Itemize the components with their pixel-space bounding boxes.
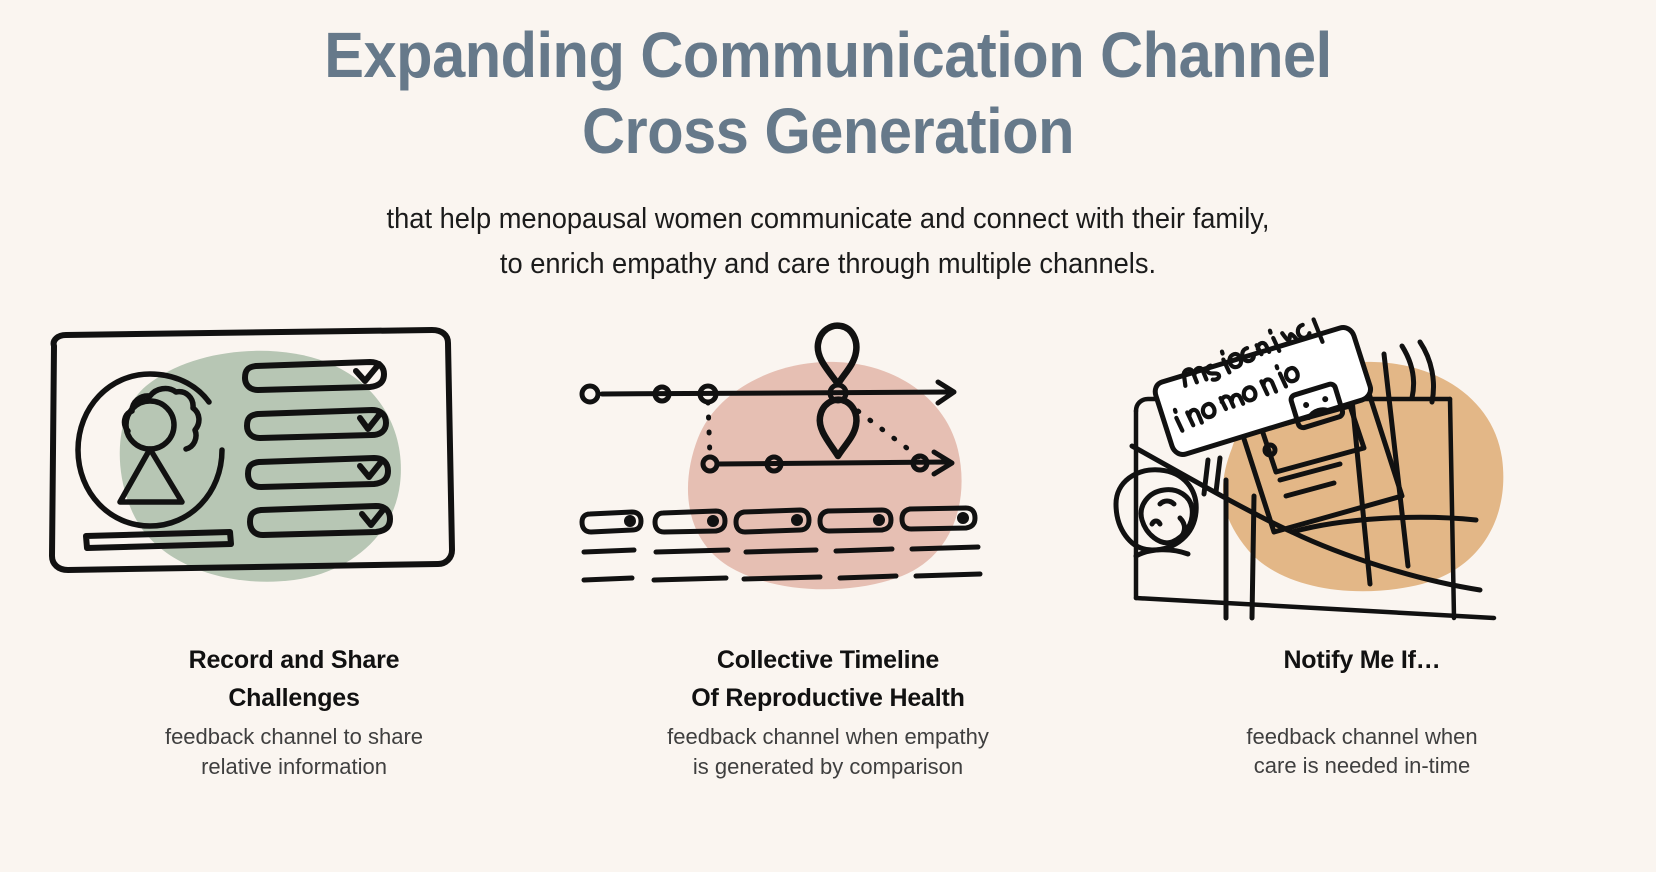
caption-subtext: feedback channel when care is needed in-… [1132,722,1592,781]
pink-blob [688,362,962,589]
caption-subtext-line-2: care is needed in-time [1132,751,1592,781]
feature-column-notify-me-if: Notify Me If… feedback channel when care… [1102,318,1622,781]
caption-title-line-2: Of Reproductive Health [598,680,1058,718]
caption-title-line-1: Record and Share [64,642,524,680]
caption-subtext: feedback channel to share relative infor… [64,722,524,781]
notify-me-if-illustration [1102,318,1622,618]
header: Expanding Communication Channel Cross Ge… [0,0,1656,287]
page-subtitle-line-1: that help menopausal women communicate a… [50,197,1607,242]
caption-subtext-line-1: feedback channel when empathy [598,722,1058,752]
feature-column-collective-timeline: Collective Timeline Of Reproductive Heal… [568,318,1088,781]
caption-title-line-1: Collective Timeline [598,642,1058,680]
collective-timeline-illustration [568,318,1088,618]
caption-notify-me-if: Notify Me If… feedback channel when care… [1132,642,1592,781]
caption-collective-timeline: Collective Timeline Of Reproductive Heal… [598,642,1058,781]
caption-subtext: feedback channel when empathy is generat… [598,722,1058,781]
page-subtitle: that help menopausal women communicate a… [50,197,1607,287]
caption-title-line-2: Challenges [64,680,524,718]
caption-subtext-line-1: feedback channel to share [64,722,524,752]
caption-title: Record and Share Challenges [64,642,524,717]
record-and-share-illustration [34,318,554,618]
feature-columns: Record and Share Challenges feedback cha… [0,318,1656,781]
tag-pill [582,512,641,532]
caption-subtext-line-2: is generated by comparison [598,752,1058,782]
caption-title: Collective Timeline Of Reproductive Heal… [598,642,1058,717]
caption-title-line-1: Notify Me If… [1132,642,1592,680]
caption-subtext-line-1: feedback channel when [1132,722,1592,752]
caption-title: Notify Me If… [1132,642,1592,680]
page-subtitle-line-2: to enrich empathy and care through multi… [50,242,1607,287]
slide-root: Expanding Communication Channel Cross Ge… [0,0,1656,872]
feature-column-record-and-share: Record and Share Challenges feedback cha… [34,318,554,781]
page-title: Expanding Communication Channel Cross Ge… [58,18,1598,169]
caption-subtext-line-2: relative information [64,752,524,782]
caption-record-and-share: Record and Share Challenges feedback cha… [64,642,524,781]
page-title-line-2: Cross Generation [58,94,1598,170]
page-title-line-1: Expanding Communication Channel [58,18,1598,94]
